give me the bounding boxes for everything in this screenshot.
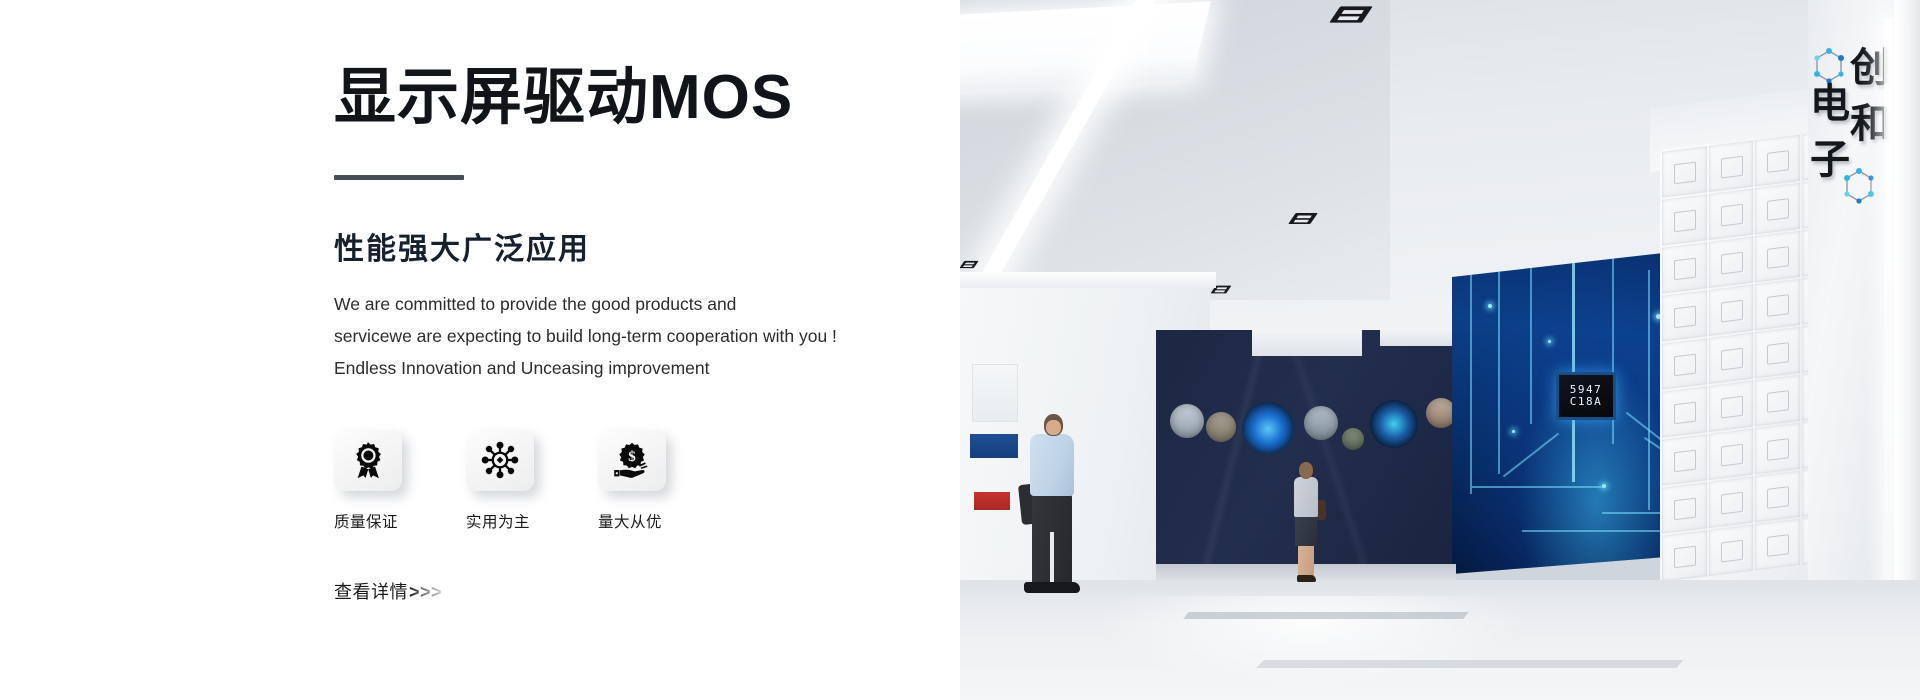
floor-reflection: [1100, 596, 1520, 686]
relief-cell: [1709, 477, 1754, 528]
hero-banner: 显示屏驱动MOS 性能强大广泛应用 We are committed to pr…: [0, 0, 1920, 700]
svg-text:$: $: [628, 449, 636, 465]
person-businesswoman: [1286, 462, 1326, 584]
title-divider: [334, 175, 464, 180]
page-title: 显示屏驱动MOS: [334, 62, 894, 133]
description-line-3: Endless Innovation and Unceasing improve…: [334, 353, 894, 385]
person-legs: [1298, 544, 1314, 578]
relief-cell: [1709, 525, 1754, 576]
view-details-label: 查看详情: [334, 578, 408, 604]
award-ribbon-icon: [350, 441, 386, 479]
person-torso: [1030, 434, 1074, 496]
relief-cell: [1662, 386, 1707, 437]
relief-cell: [1662, 482, 1707, 533]
chevron-right-icon: >>>: [409, 582, 442, 603]
person-shoes: [1024, 582, 1080, 593]
relief-cell: [1662, 434, 1707, 485]
subtitle: 性能强大广泛应用: [334, 230, 894, 269]
exhibit-photo-circle: [1304, 406, 1338, 440]
floor-seam: [1183, 612, 1468, 619]
relief-cell: [1709, 285, 1754, 336]
person-head: [1299, 462, 1313, 479]
exhibit-photo-circle: [1170, 404, 1204, 438]
feature-label-quality: 质量保证: [334, 510, 408, 532]
feature-item-quality[interactable]: 质量保证: [334, 429, 408, 532]
hexagon-molecule-icon: [1842, 168, 1876, 206]
feature-label-practical: 实用为主: [466, 510, 540, 532]
skylight-panel-light: [960, 1, 1211, 93]
network-hub-icon: [481, 441, 519, 479]
view-details-link[interactable]: 查看详情 >>>: [334, 578, 442, 604]
relief-cell: [1755, 519, 1800, 570]
person-shoes: [1297, 575, 1316, 582]
relief-cell: [1755, 135, 1800, 186]
ceiling-soffit: [1380, 330, 1452, 346]
feature-item-practical[interactable]: 实用为主: [466, 429, 540, 532]
relief-cell: [1709, 381, 1754, 432]
person-face: [1046, 420, 1061, 435]
relief-cell: [1709, 429, 1754, 480]
relief-cell: [1662, 290, 1707, 341]
ceiling-soffit: [1252, 330, 1362, 356]
banner-content: 显示屏驱动MOS 性能强大广泛应用 We are committed to pr…: [334, 62, 894, 604]
hexagon-molecule-icon: [1812, 48, 1846, 86]
wall-poster: [972, 364, 1018, 422]
feature-list: 质量保证: [334, 429, 894, 532]
feature-tile-practical[interactable]: [466, 429, 534, 491]
exhibit-chip-circle: [1370, 400, 1418, 448]
exhibit-photo-circle: [1206, 412, 1236, 442]
person-leg-gap: [1050, 532, 1054, 586]
relief-cell: [1709, 189, 1754, 240]
relief-cell: [1709, 333, 1754, 384]
description-line-2: servicewe are expecting to build long-te…: [334, 321, 894, 353]
feature-label-bulk-discount: 量大从优: [598, 510, 672, 532]
person-businessman: [1016, 414, 1090, 596]
exhibit-photo-circle: [1426, 398, 1456, 428]
description-line-1: We are committed to provide the good pro…: [334, 289, 894, 321]
relief-cell: [1709, 141, 1754, 192]
showroom-interior-photo: CRMTI YOUJORIS: [960, 0, 1920, 700]
relief-cell: [1755, 183, 1800, 234]
chip-graphic: 5947 C18A: [1556, 372, 1616, 420]
relief-cell: [1662, 242, 1707, 293]
relief-cell: [1755, 423, 1800, 474]
wall-sign-red: [974, 492, 1010, 510]
left-wall-top-edge: [960, 272, 1216, 288]
relief-cell: [1662, 530, 1707, 581]
description-paragraph: We are committed to provide the good pro…: [334, 289, 894, 385]
wall-sign-blue: [970, 434, 1018, 458]
person-skirt: [1295, 514, 1317, 546]
relief-cell: [1755, 375, 1800, 426]
relief-cell: [1662, 338, 1707, 389]
sign-char-dian: 电: [1810, 84, 1850, 124]
feature-tile-quality[interactable]: [334, 429, 402, 491]
relief-cell: [1755, 327, 1800, 378]
relief-cell: [1755, 471, 1800, 522]
chip-label-line-2: C18A: [1570, 396, 1603, 408]
relief-cell: [1755, 279, 1800, 330]
relief-cell: [1662, 146, 1707, 197]
exhibit-photo-circle: [1342, 428, 1364, 450]
relief-cell: [1755, 231, 1800, 282]
left-text-panel: 显示屏驱动MOS 性能强大广泛应用 We are committed to pr…: [0, 0, 960, 700]
floor-seam: [1256, 660, 1683, 668]
person-torso: [1294, 477, 1318, 517]
vertical-light-strip: [1884, 18, 1893, 658]
relief-cell: [1662, 194, 1707, 245]
hand-money-icon: $: [613, 442, 651, 478]
feature-tile-bulk-discount[interactable]: $: [598, 429, 666, 491]
relief-cell: [1709, 237, 1754, 288]
feature-item-bulk-discount[interactable]: $ 量大从优: [598, 429, 672, 532]
exhibit-chip-circle: [1242, 402, 1294, 454]
